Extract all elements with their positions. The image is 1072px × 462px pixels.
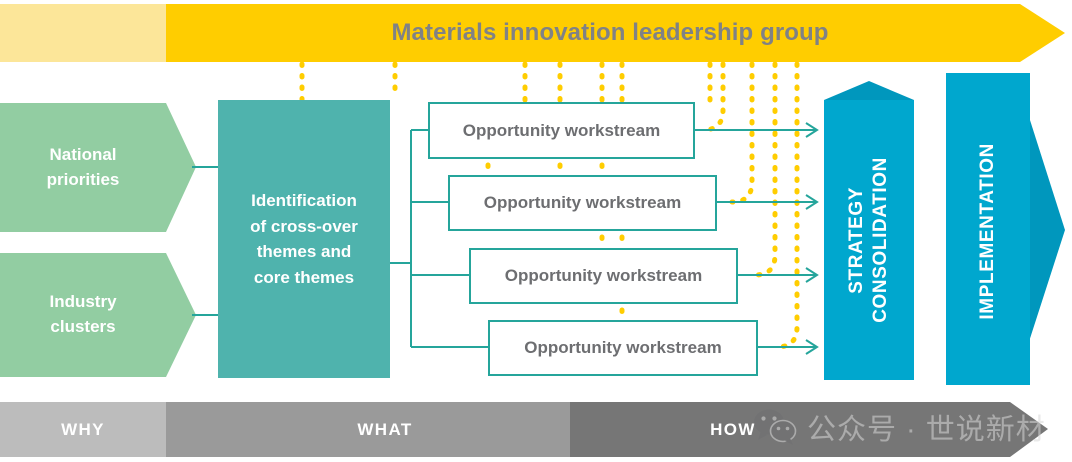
diagram-shapes (0, 0, 1072, 462)
stage-chevron-how[interactable] (570, 402, 1048, 457)
identification-block (218, 100, 390, 378)
dotted-curve-4 (777, 64, 797, 347)
workstream-box[interactable] (429, 103, 694, 158)
workstream-box[interactable] (449, 176, 716, 230)
dotted-curves (703, 64, 797, 347)
input-arrow-national (0, 103, 196, 232)
workstream-boxes (429, 103, 757, 375)
header-banner-tail (0, 4, 166, 62)
dotted-curve-3 (755, 64, 775, 275)
dotted-curve-1 (703, 64, 723, 130)
workstream-box[interactable] (489, 321, 757, 375)
implementation-block[interactable] (946, 73, 1030, 385)
dotted-curve-2 (732, 64, 752, 202)
workstream-fanout (390, 130, 489, 347)
stage-chevron-what[interactable] (166, 402, 608, 457)
header-banner-arrow (166, 4, 1065, 62)
input-arrow-industry (0, 253, 196, 377)
strategy-consolidation-block[interactable] (824, 100, 914, 380)
input-connectors (192, 167, 218, 315)
strategy-consolidation-cap (824, 81, 914, 100)
workstream-box[interactable] (470, 249, 737, 303)
diagram-canvas: Materials innovation leadership group Na… (0, 0, 1072, 462)
